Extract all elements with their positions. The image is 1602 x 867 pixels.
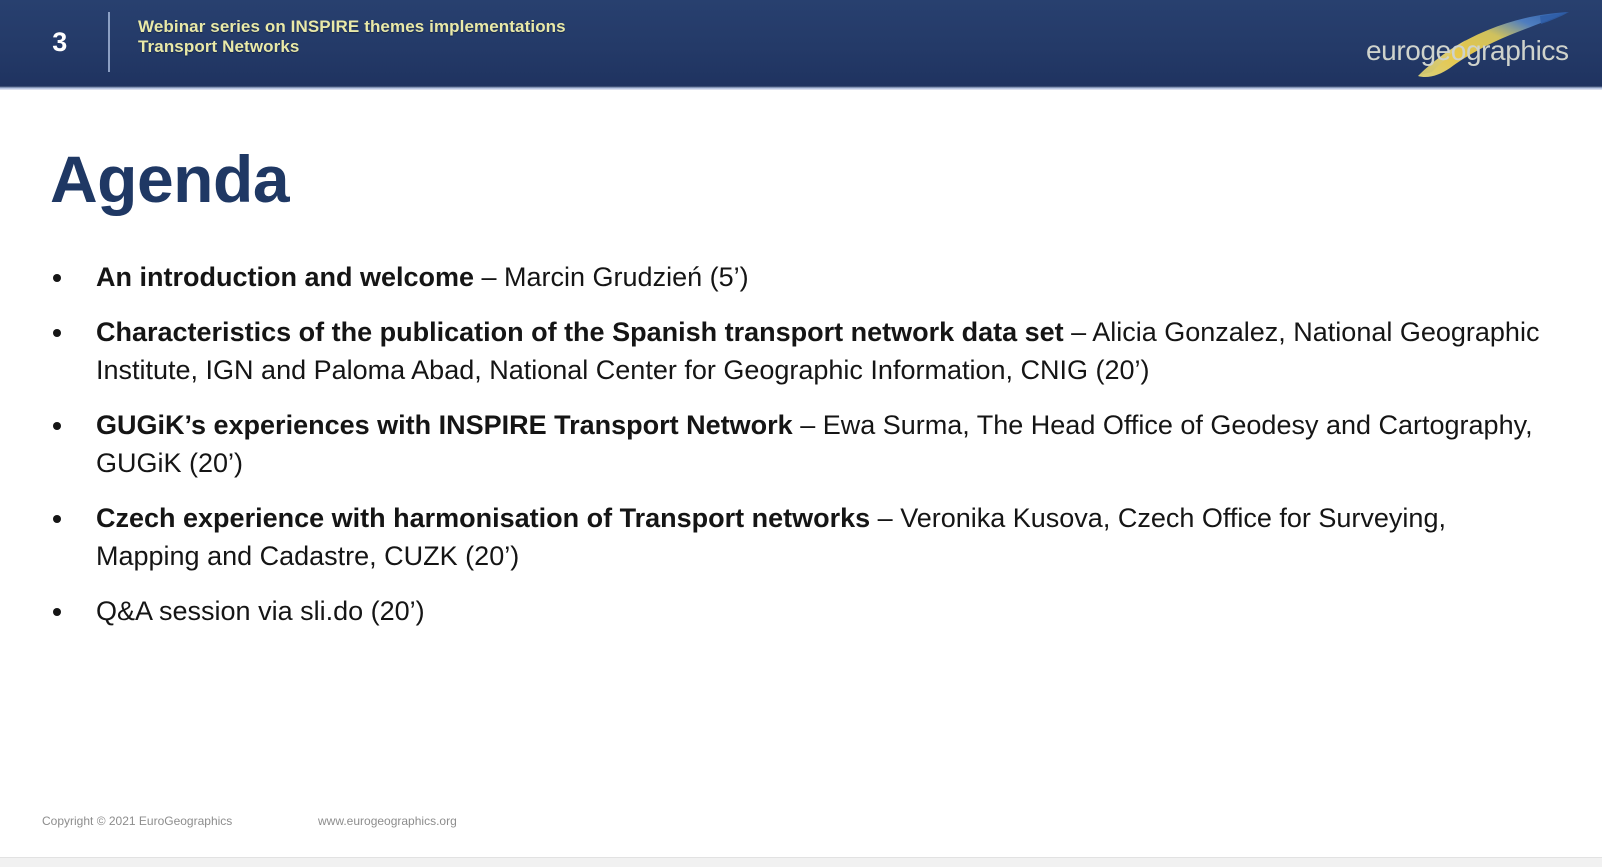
- header-underline: [0, 86, 1602, 90]
- agenda-item-lead: An introduction and welcome: [96, 262, 474, 292]
- logo-wordmark: eurogeographics: [1366, 35, 1569, 66]
- agenda-list: An introduction and welcome – Marcin Gru…: [44, 258, 1544, 630]
- header-divider: [108, 12, 110, 72]
- header-title: Webinar series on INSPIRE themes impleme…: [138, 17, 1038, 57]
- agenda-item-text: Q&A session via sli.do (20’): [96, 592, 1544, 630]
- header-title-line-1: Webinar series on INSPIRE themes impleme…: [138, 17, 1038, 37]
- page-title: Agenda: [50, 140, 289, 218]
- bullet-dot-icon: [53, 608, 61, 616]
- footer-url[interactable]: www.eurogeographics.org: [318, 812, 457, 830]
- agenda-item-text: Czech experience with harmonisation of T…: [96, 499, 1544, 575]
- bottom-strip: [0, 857, 1602, 867]
- agenda-item: An introduction and welcome – Marcin Gru…: [44, 258, 1544, 296]
- agenda-item-lead: GUGiK’s experiences with INSPIRE Transpo…: [96, 410, 793, 440]
- eurogeographics-logo: eurogeographics: [1354, 6, 1584, 80]
- agenda-item-rest: Q&A session via sli.do (20’): [96, 596, 425, 626]
- agenda-item-rest: – Marcin Grudzień (5’): [474, 262, 749, 292]
- agenda-item: Characteristics of the publication of th…: [44, 313, 1544, 389]
- agenda-item: Q&A session via sli.do (20’): [44, 592, 1544, 630]
- slide-number: 3: [38, 22, 82, 62]
- presentation-slide: 3 Webinar series on INSPIRE themes imple…: [0, 0, 1602, 867]
- header-title-line-2: Transport Networks: [138, 37, 1038, 57]
- bullet-dot-icon: [53, 422, 61, 430]
- agenda-item-lead: Czech experience with harmonisation of T…: [96, 503, 870, 533]
- agenda-item: GUGiK’s experiences with INSPIRE Transpo…: [44, 406, 1544, 482]
- footer-copyright: Copyright © 2021 EuroGeographics: [42, 812, 232, 830]
- slide-header: 3 Webinar series on INSPIRE themes imple…: [0, 0, 1602, 86]
- bullet-dot-icon: [53, 515, 61, 523]
- agenda-item-text: GUGiK’s experiences with INSPIRE Transpo…: [96, 406, 1544, 482]
- agenda-item-lead: Characteristics of the publication of th…: [96, 317, 1064, 347]
- agenda-item: Czech experience with harmonisation of T…: [44, 499, 1544, 575]
- bullet-dot-icon: [53, 329, 61, 337]
- agenda-item-text: An introduction and welcome – Marcin Gru…: [96, 258, 1544, 296]
- slide-footer: Copyright © 2021 EuroGeographics www.eur…: [0, 812, 1602, 842]
- bullet-dot-icon: [53, 274, 61, 282]
- agenda-item-text: Characteristics of the publication of th…: [96, 313, 1544, 389]
